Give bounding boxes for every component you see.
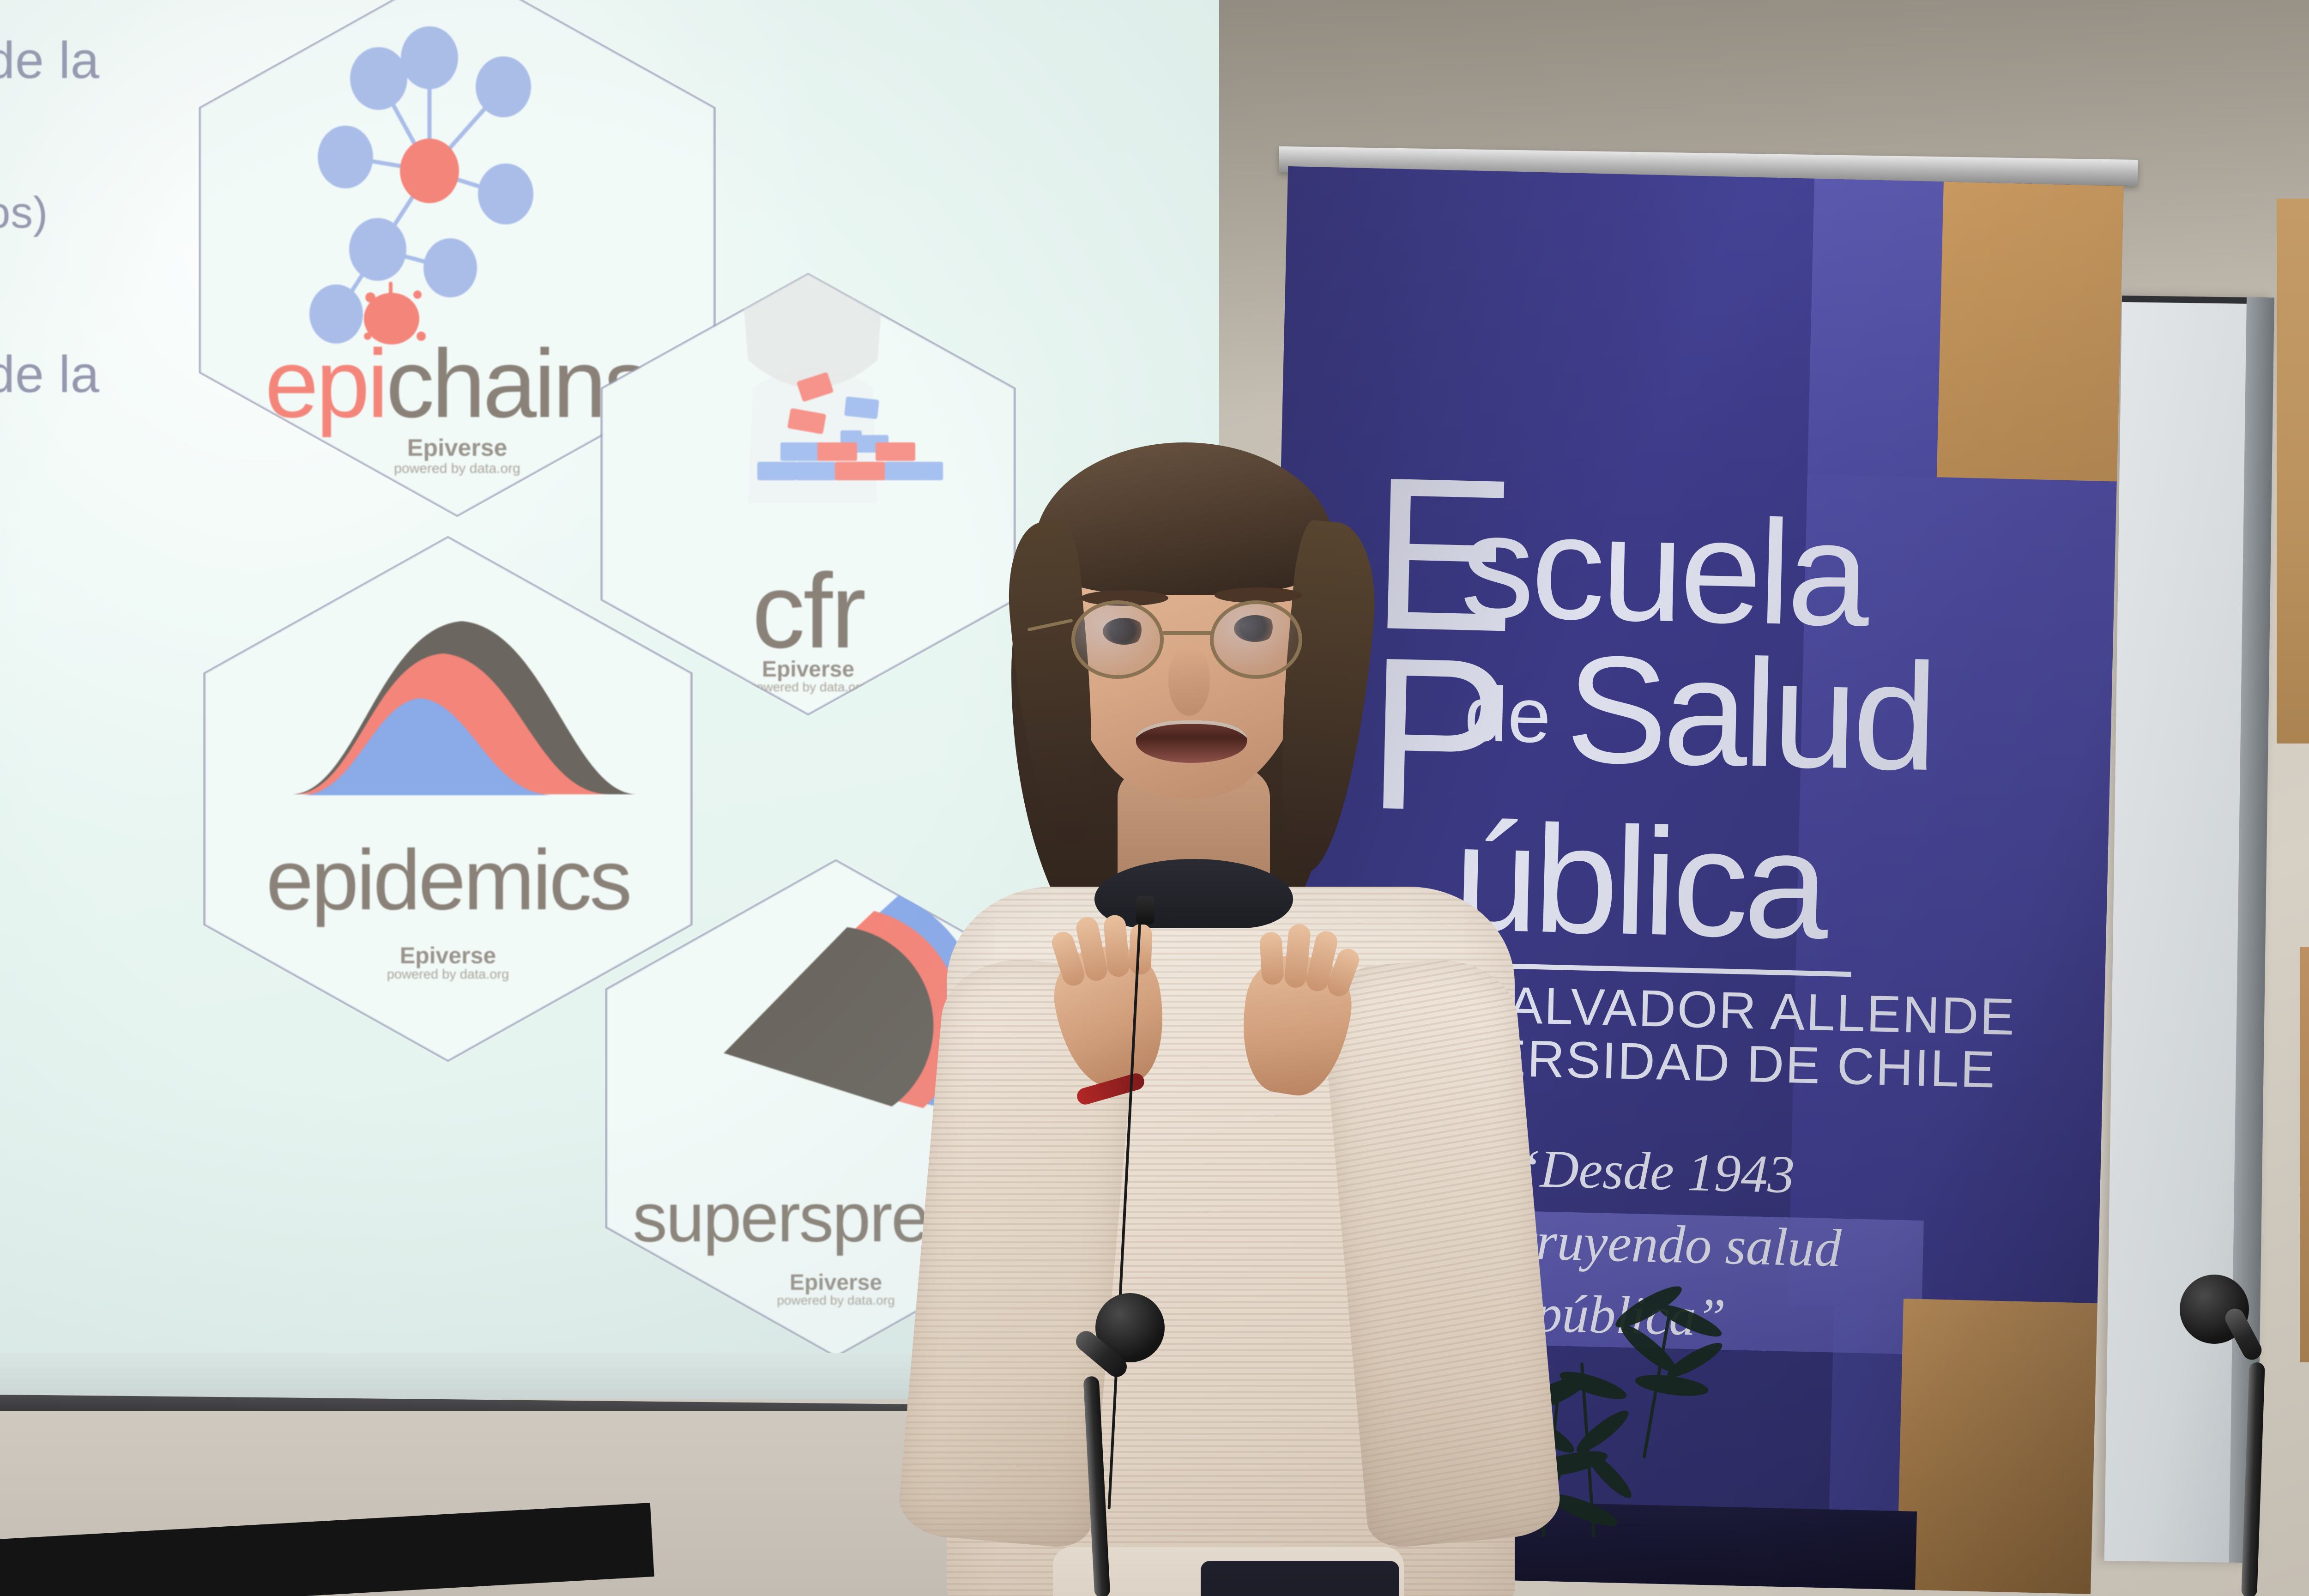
slide-text-fragment-2: tos) bbox=[0, 187, 48, 238]
accent-wall-panel bbox=[2277, 199, 2309, 744]
mic-stem bbox=[1083, 1376, 1110, 1596]
banner-word-salud: Salud bbox=[1564, 621, 1935, 805]
slide-text-fragment-3: de la bbox=[0, 345, 99, 404]
photo-scene: de la tos) de la ) s bbox=[0, 0, 2309, 1596]
hex-sub-epiverse: Epiverse bbox=[203, 942, 693, 969]
presenter bbox=[877, 416, 1598, 1596]
lens-left bbox=[1071, 600, 1164, 679]
hex-label-epidemics: epidemics bbox=[203, 831, 693, 929]
slide-text-fragment-1: de la bbox=[0, 30, 99, 90]
dark-garment bbox=[1201, 1561, 1399, 1596]
microphone-right bbox=[2180, 1275, 2309, 1596]
glasses-bridge bbox=[1163, 631, 1212, 635]
hex-label-colored: epi bbox=[265, 329, 386, 438]
lens-right bbox=[1210, 600, 1302, 679]
microphone-left bbox=[1053, 1293, 1210, 1596]
slide-text-fragment-5: s bbox=[0, 665, 1, 716]
root-node bbox=[400, 139, 459, 203]
screen-bottom-strip bbox=[0, 1353, 1016, 1399]
eyeglasses bbox=[1071, 600, 1302, 679]
mouth-open-speaking bbox=[1136, 720, 1247, 763]
mic-stem bbox=[2241, 1362, 2265, 1596]
hex-sub-dataorg: powered by data.org bbox=[203, 967, 693, 982]
banner-tan-panel-lower bbox=[1897, 1299, 2102, 1594]
finger bbox=[1259, 931, 1284, 985]
banner-mid-panel bbox=[1807, 179, 1953, 478]
lavalier-microphone bbox=[1136, 896, 1154, 925]
